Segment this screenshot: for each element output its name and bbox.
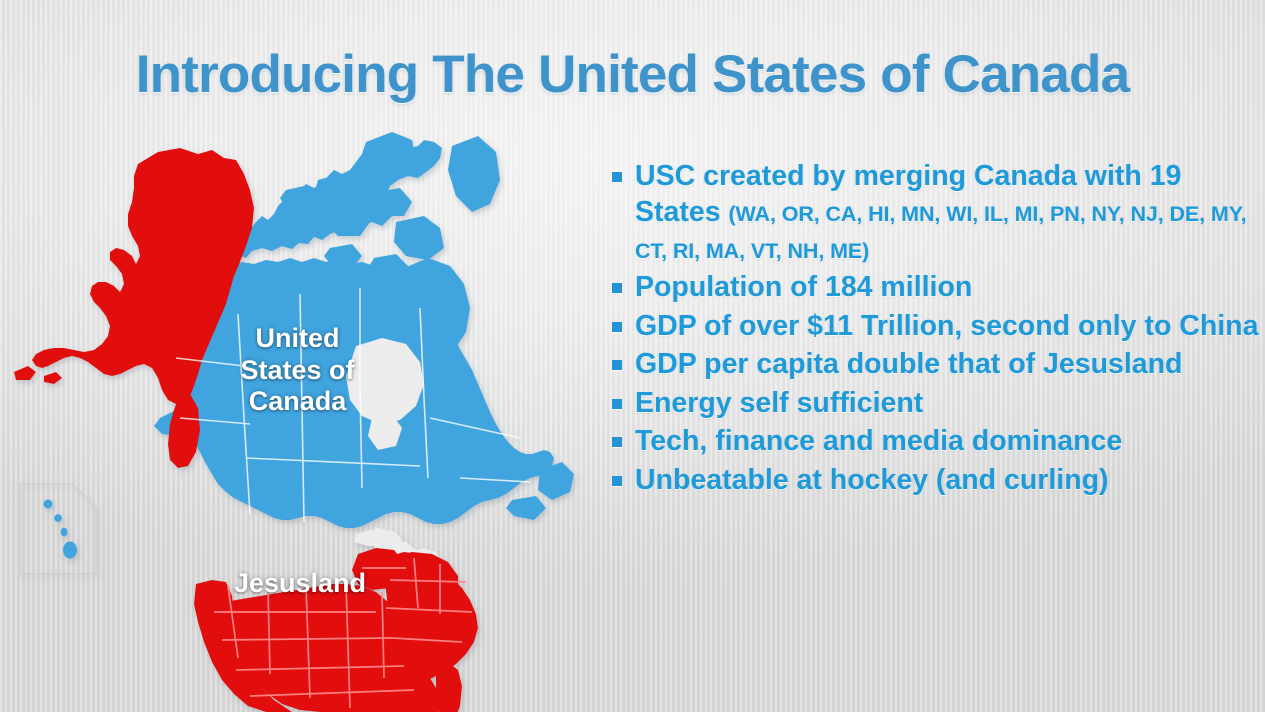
bullet-text: Unbeatable at hockey (and curling) (635, 462, 1260, 498)
list-item: Tech, finance and media dominance (612, 423, 1260, 459)
square-bullet-icon (612, 437, 622, 447)
bullet-text: GDP of over $11 Trillion, second only to… (635, 308, 1260, 344)
nova-scotia (506, 496, 546, 520)
bullet-main: GDP per capita double that of Jesusland (635, 348, 1182, 380)
aleutian-islands (14, 366, 36, 380)
map-graphic: United States of Canada Jesusland (0, 118, 620, 712)
hawaii-inset (20, 484, 96, 574)
arctic-island-6 (394, 216, 444, 260)
square-bullet-icon (612, 476, 622, 486)
greenland-edge (448, 136, 500, 212)
hawaii-island-3 (61, 528, 68, 537)
bullet-main: Unbeatable at hockey (and curling) (635, 464, 1109, 496)
square-bullet-icon (612, 360, 622, 370)
square-bullet-icon (612, 283, 622, 293)
bullet-main: Energy self sufficient (635, 387, 923, 419)
bullet-list: USC created by merging Canada with 19 St… (612, 158, 1260, 500)
list-item: GDP of over $11 Trillion, second only to… (612, 308, 1260, 344)
bullet-text: USC created by merging Canada with 19 St… (635, 158, 1260, 267)
list-item: Energy self sufficient (612, 385, 1260, 421)
florida (436, 662, 462, 712)
list-item: Population of 184 million (612, 269, 1260, 305)
square-bullet-icon (612, 322, 622, 332)
hawaii-inset-box (20, 484, 96, 574)
hawaii-island-2 (54, 514, 62, 522)
bullet-text: GDP per capita double that of Jesusland (635, 346, 1260, 382)
list-item: USC created by merging Canada with 19 St… (612, 158, 1260, 267)
list-item: Unbeatable at hockey (and curling) (612, 462, 1260, 498)
list-item: GDP per capita double that of Jesusland (612, 346, 1260, 382)
bullet-main: GDP of over $11 Trillion, second only to… (635, 310, 1258, 342)
bullet-text: Population of 184 million (635, 269, 1260, 305)
hawaii-island-1 (44, 500, 53, 509)
square-bullet-icon (612, 172, 622, 182)
north-america-map-svg (0, 118, 620, 712)
page-title: Introducing The United States of Canada (0, 44, 1265, 105)
bullet-main: Tech, finance and media dominance (635, 425, 1122, 457)
aleutian-islands-2 (44, 372, 62, 384)
hawaii-island-4 (63, 542, 77, 559)
square-bullet-icon (612, 399, 622, 409)
bullet-text: Tech, finance and media dominance (635, 423, 1260, 459)
alaska-panhandle (168, 394, 200, 468)
bullet-text: Energy self sufficient (635, 385, 1260, 421)
slide-canvas: Introducing The United States of Canada (0, 0, 1265, 712)
bullet-main: Population of 184 million (635, 271, 972, 303)
